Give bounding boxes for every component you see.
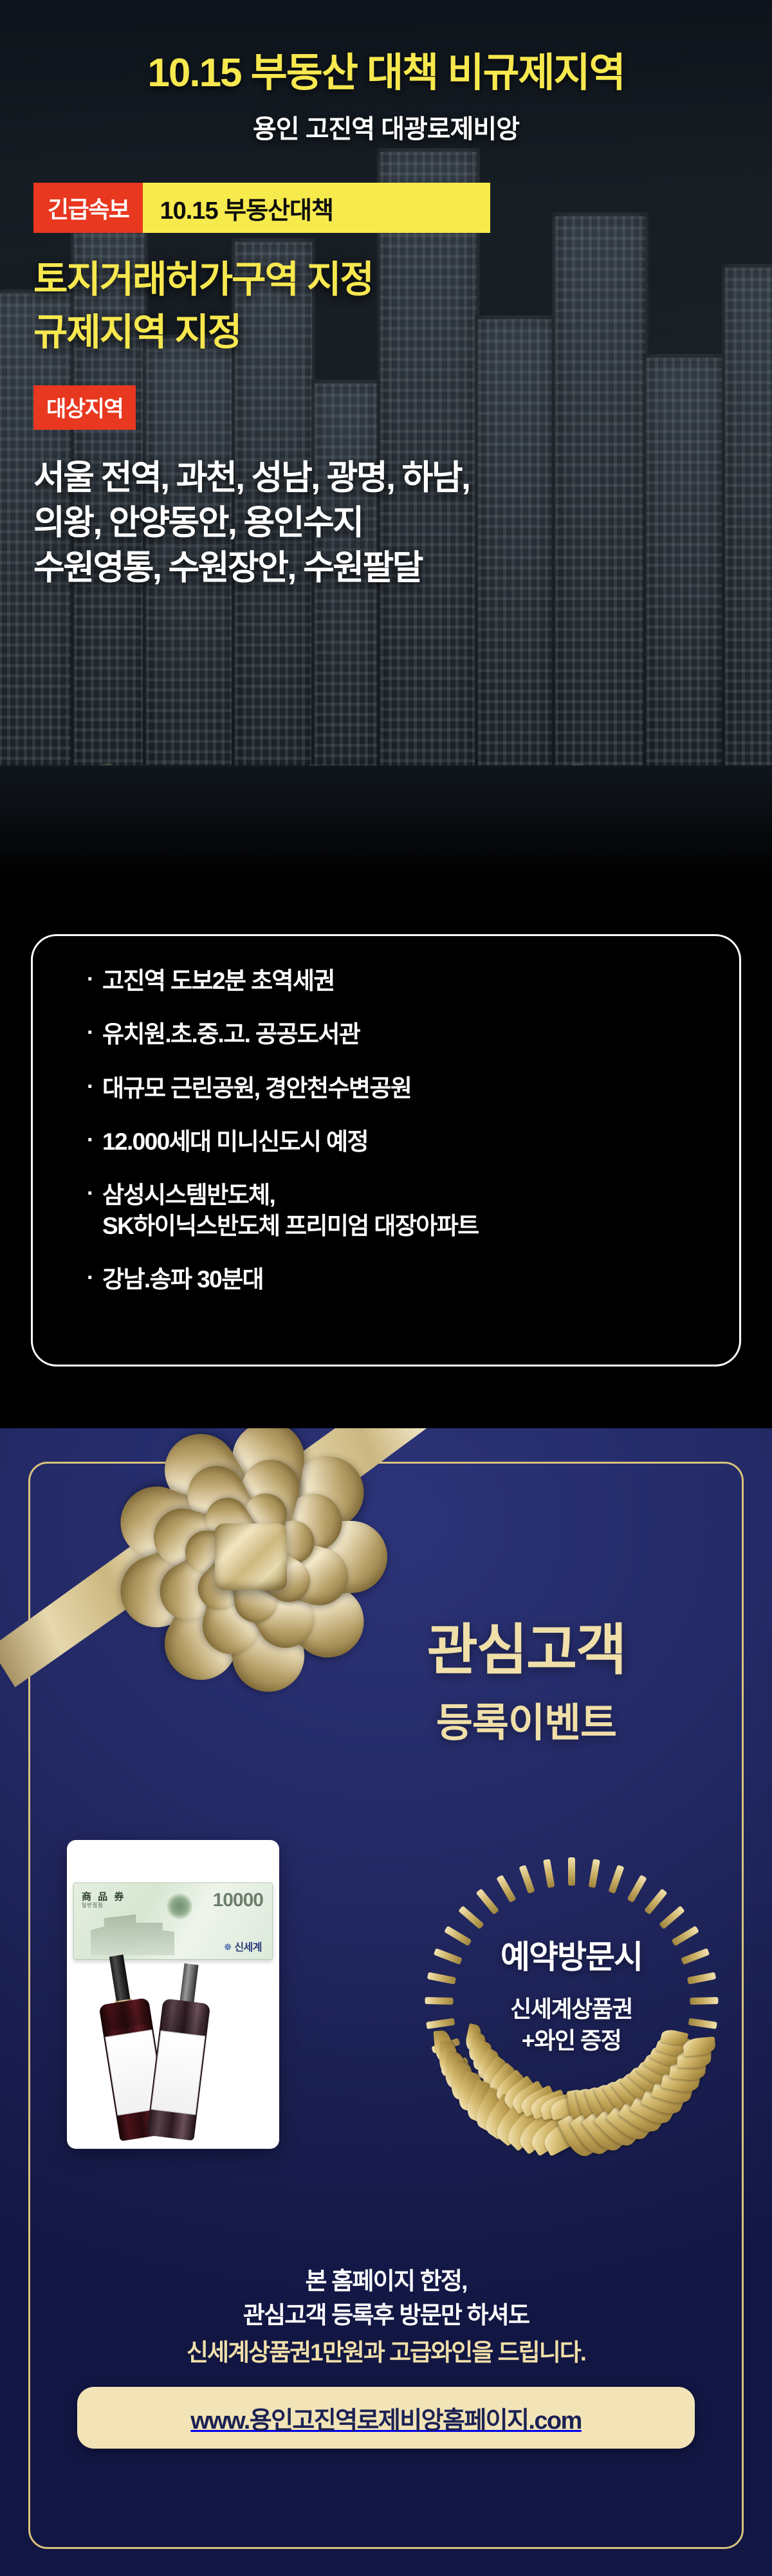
footer-note-line: 본 홈페이지 한정,	[0, 2265, 772, 2299]
breaking-news-headline: 10.15 부동산대책	[143, 183, 490, 233]
gift-preview-card: 商 品 券 일반점점 10000 ✵신세계	[67, 1840, 279, 2149]
target-region-list: 서울 전역, 과천, 성남, 광명, 하남, 의왕, 안양동안, 용인수지 수원…	[33, 455, 739, 591]
bullet-icon: ·	[87, 1073, 102, 1101]
region-line: 의왕, 안양동안, 용인수지	[33, 501, 739, 546]
policy-line-1: 토지거래허가구역 지정	[33, 255, 739, 305]
badge-line: 신세계상품권	[410, 1994, 732, 2025]
list-item-label: 고진역 도보2분 초역세권	[102, 966, 739, 996]
badge-title: 예약방문시	[410, 1931, 732, 1978]
certificate-brand: ✵신세계	[223, 1938, 262, 1954]
ray-tick	[608, 1864, 624, 1893]
event-subtitle: 등록이벤트	[314, 1690, 739, 1748]
list-item: · 대규모 근린공원, 경안천수변공원	[87, 1073, 739, 1103]
certificate-rosette-icon	[167, 1893, 192, 1919]
breaking-news-banner: 긴급속보 10.15 부동산대책	[33, 183, 490, 233]
certificate-building-icon	[91, 1909, 174, 1955]
homepage-url-button[interactable]: www.용인고진역로제비앙홈페이지.com	[77, 2387, 695, 2449]
bullet-icon: ·	[87, 1264, 102, 1293]
region-line: 서울 전역, 과천, 성남, 광명, 하남,	[33, 455, 739, 501]
page-title: 10.15 부동산 대책 비규제지역	[33, 51, 739, 95]
certificate-hanja-label: 商 品 券	[82, 1890, 125, 1903]
features-section: · 고진역 도보2분 초역세권 · 유치원.초.중.고. 공공도서관 · 대규모…	[0, 875, 772, 1428]
ray-tick	[519, 1864, 535, 1893]
list-item: · 강남.송파 30분대	[87, 1264, 739, 1294]
event-section: 관심고객 등록이벤트 商 品 券 일반점점 10000 ✵신세계 예약방문시 신…	[0, 1428, 772, 2576]
certificate-amount: 10000	[213, 1890, 263, 1911]
ray-tick	[589, 1859, 600, 1888]
bullet-icon: ·	[87, 966, 102, 994]
ray-tick	[543, 1859, 555, 1888]
footer-note-highlight: 신세계상품권1만원과 고급와인을 드립니다.	[0, 2336, 772, 2370]
ray-tick	[659, 1906, 685, 1929]
shinsegae-flower-icon: ✵	[223, 1942, 232, 1953]
ray-tick	[568, 1857, 575, 1886]
page-subtitle: 용인 고진역 대광로제비앙	[33, 108, 739, 145]
feature-list-box: · 고진역 도보2분 초역세권 · 유치원.초.중.고. 공공도서관 · 대규모…	[31, 934, 741, 1366]
ray-tick	[476, 1888, 499, 1915]
event-footer-note: 본 홈페이지 한정, 관심고객 등록후 방문만 하셔도 신세계상품권1만원과 고…	[0, 2265, 772, 2370]
certificate-brand-label: 신세계	[234, 1942, 262, 1953]
target-area-tag: 대상지역	[33, 385, 136, 430]
bullet-icon: ·	[87, 1180, 102, 1208]
event-heading: 관심고객 등록이벤트	[314, 1621, 739, 1748]
gift-certificate-image: 商 品 券 일반점점 10000 ✵신세계	[73, 1882, 273, 1960]
list-item-label: 12.000세대 미니신도시 예정	[102, 1127, 739, 1157]
bullet-icon: ·	[87, 1127, 102, 1155]
event-title: 관심고객	[314, 1621, 739, 1680]
list-item: · 12.000세대 미니신도시 예정	[87, 1127, 739, 1157]
homepage-url-label: www.용인고진역로제비앙홈페이지.com	[190, 2400, 581, 2436]
certificate-small-label: 일반점점	[82, 1902, 103, 1909]
footer-note-line: 관심고객 등록후 방문만 하셔도	[0, 2299, 772, 2333]
ray-tick	[496, 1875, 516, 1903]
ray-tick	[644, 1888, 667, 1915]
hero-section: 10.15 부동산 대책 비규제지역 용인 고진역 대광로제비앙 긴급속보 10…	[0, 0, 772, 875]
ribbon-knot	[215, 1523, 287, 1590]
policy-line-2: 규제지역 지정	[33, 308, 739, 358]
bullet-icon: ·	[87, 1019, 102, 1047]
reservation-badge: 예약방문시 신세계상품권 +와인 증정	[410, 1853, 732, 2155]
list-item-label: 대규모 근린공원, 경안천수변공원	[102, 1073, 739, 1103]
list-item-label: 강남.송파 30분대	[102, 1264, 739, 1294]
list-item: · 고진역 도보2분 초역세권	[87, 966, 739, 996]
ray-tick	[627, 1875, 647, 1903]
region-line: 수원영통, 수원장안, 수원팔달	[33, 546, 739, 591]
badge-line: +와인 증정	[410, 2026, 732, 2056]
list-item-label: 유치원.초.중.고. 공공도서관	[102, 1019, 739, 1049]
wine-bottle-icon	[147, 1962, 216, 2141]
breaking-news-tag: 긴급속보	[33, 183, 143, 233]
ray-tick	[458, 1906, 484, 1929]
list-item: · 삼성시스템반도체, SK하이닉스반도체 프리미엄 대장아파트	[87, 1180, 739, 1241]
list-item: · 유치원.초.중.고. 공공도서관	[87, 1019, 739, 1049]
list-item-label: 삼성시스템반도체, SK하이닉스반도체 프리미엄 대장아파트	[102, 1180, 739, 1241]
